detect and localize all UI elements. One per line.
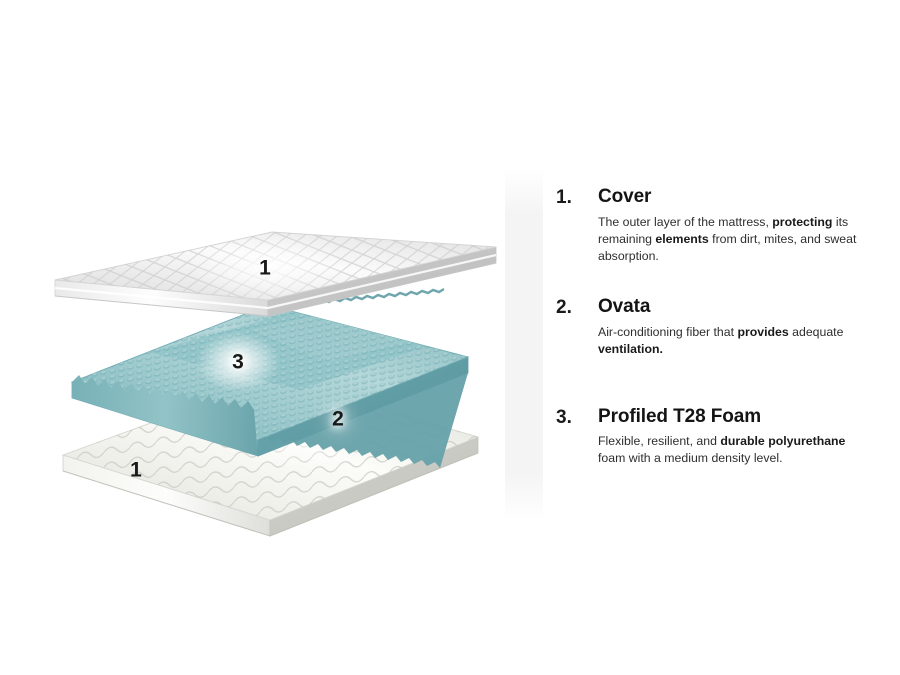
legend-item-foam: 3. Profiled T28 Foam Flexible, resilient… bbox=[556, 406, 876, 468]
legend-index-1: 1. bbox=[556, 188, 572, 208]
layer-badge-ovata: 3 bbox=[232, 352, 244, 373]
layer-badge-cover: 1 bbox=[259, 258, 271, 279]
layer-badge-foam: 2 bbox=[332, 409, 344, 430]
legend-title-foam: Profiled T28 Foam bbox=[598, 406, 876, 428]
legend-desc-ovata: Air-conditioning fiber that provides ade… bbox=[598, 324, 860, 358]
legend-item-cover: 1. Cover The outer layer of the mattress… bbox=[556, 186, 876, 265]
legend-desc-cover: The outer layer of the mattress, protect… bbox=[598, 214, 860, 265]
legend-title-ovata: Ovata bbox=[598, 296, 876, 318]
mattress-exploded-diagram: 1 3 2 1 bbox=[0, 0, 520, 675]
legend-title-cover: Cover bbox=[598, 186, 876, 208]
legend-index-3: 3. bbox=[556, 408, 572, 428]
page-root: 1 3 2 1 1. Cover The outer layer of the … bbox=[0, 0, 900, 675]
legend-item-ovata: 2. Ovata Air-conditioning fiber that pro… bbox=[556, 296, 876, 358]
legend-index-2: 2. bbox=[556, 298, 572, 318]
legend-desc-foam: Flexible, resilient, and durable polyure… bbox=[598, 433, 860, 467]
layer-legend-list: 1. Cover The outer layer of the mattress… bbox=[556, 186, 876, 467]
layer-badge-base: 1 bbox=[130, 460, 142, 481]
diagram-layer-cover bbox=[45, 225, 510, 320]
